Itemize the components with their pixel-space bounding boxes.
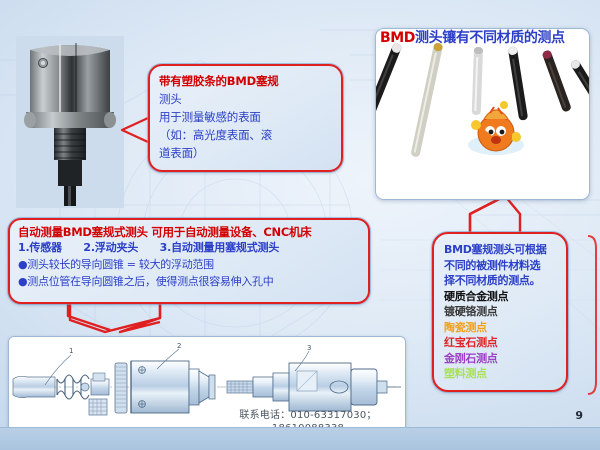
- material-item-ruby: 红宝石测点: [444, 335, 560, 351]
- material-item-ceramic: 陶瓷测点: [444, 320, 560, 336]
- materials-head-line3: 择不同材质的测点。: [444, 273, 560, 289]
- contact-line-1: 联系电话：010-63317030；: [218, 409, 398, 422]
- material-item-carbide: 硬质合金测点: [444, 289, 560, 305]
- probe-points-panel: [375, 28, 590, 200]
- callout-auto-line1: 自动测量BMD塞规式测头 可用于自动测量设备、CNC机床: [18, 224, 362, 240]
- probe-rods-illustration: [376, 29, 590, 200]
- material-item-hard-chrome: 镀硬铬测点: [444, 304, 560, 320]
- materials-head-line1: BMD塞规测头可根据: [444, 242, 560, 258]
- callout-probe-line5: 道表面）: [159, 144, 334, 162]
- slide-root: BMD测头镶有不同材质的测点 带有塑胶条的BMD塞规 测头 用于测量敏感的表面 …: [0, 0, 600, 450]
- callout-auto-line2: 1.传感器 2.浮动夹头 3.自动测量用塞规式测头: [18, 240, 362, 256]
- callout-auto-line3: ●测头较长的导向圆锥 = 较大的浮动范围: [18, 256, 362, 273]
- materials-head-line2: 不同的被测件材料选: [444, 258, 560, 274]
- bottom-band: [0, 427, 600, 450]
- assembly-label-2: 2: [177, 342, 181, 350]
- callout-automatic-measurement: 自动测量BMD塞规式测头 可用于自动测量设备、CNC机床 1.传感器 2.浮动夹…: [8, 218, 370, 304]
- material-item-plastic: 塑料测点: [444, 366, 560, 382]
- callout-probe-line2: 测头: [159, 90, 334, 108]
- callout-auto-line4: ●测点位管在导向圆锥之后，使得测点很容易伸入孔中: [18, 273, 362, 290]
- callout-plastic-strip-probe: 带有塑胶条的BMD塞规 测头 用于测量敏感的表面 （如：高光度表面、滚 道表面）: [148, 64, 343, 172]
- callout-point-materials: BMD塞规测头可根据 不同的被测件材料选 择不同材质的测点。 硬质合金测点 镀硬…: [432, 232, 568, 392]
- probe-points-title: BMD测头镶有不同材质的测点: [380, 29, 598, 47]
- probe-points-title-bmd: BMD: [380, 30, 415, 46]
- callout-probe-line1: 带有塑胶条的BMD塞规: [159, 72, 334, 90]
- callout-probe-line3: 用于测量敏感的表面: [159, 108, 334, 126]
- assembly-label-3: 3: [307, 344, 311, 352]
- callout-probe-line4: （如：高光度表面、滚: [159, 126, 334, 144]
- probe-photo-svg: [16, 36, 124, 208]
- probe-points-title-rest: 测头镶有不同材质的测点: [415, 30, 565, 46]
- material-item-diamond: 金刚石测点: [444, 351, 560, 367]
- probe-photo-left: [16, 36, 124, 208]
- assembly-label-1: 1: [69, 347, 73, 355]
- page-number: 9: [575, 409, 583, 422]
